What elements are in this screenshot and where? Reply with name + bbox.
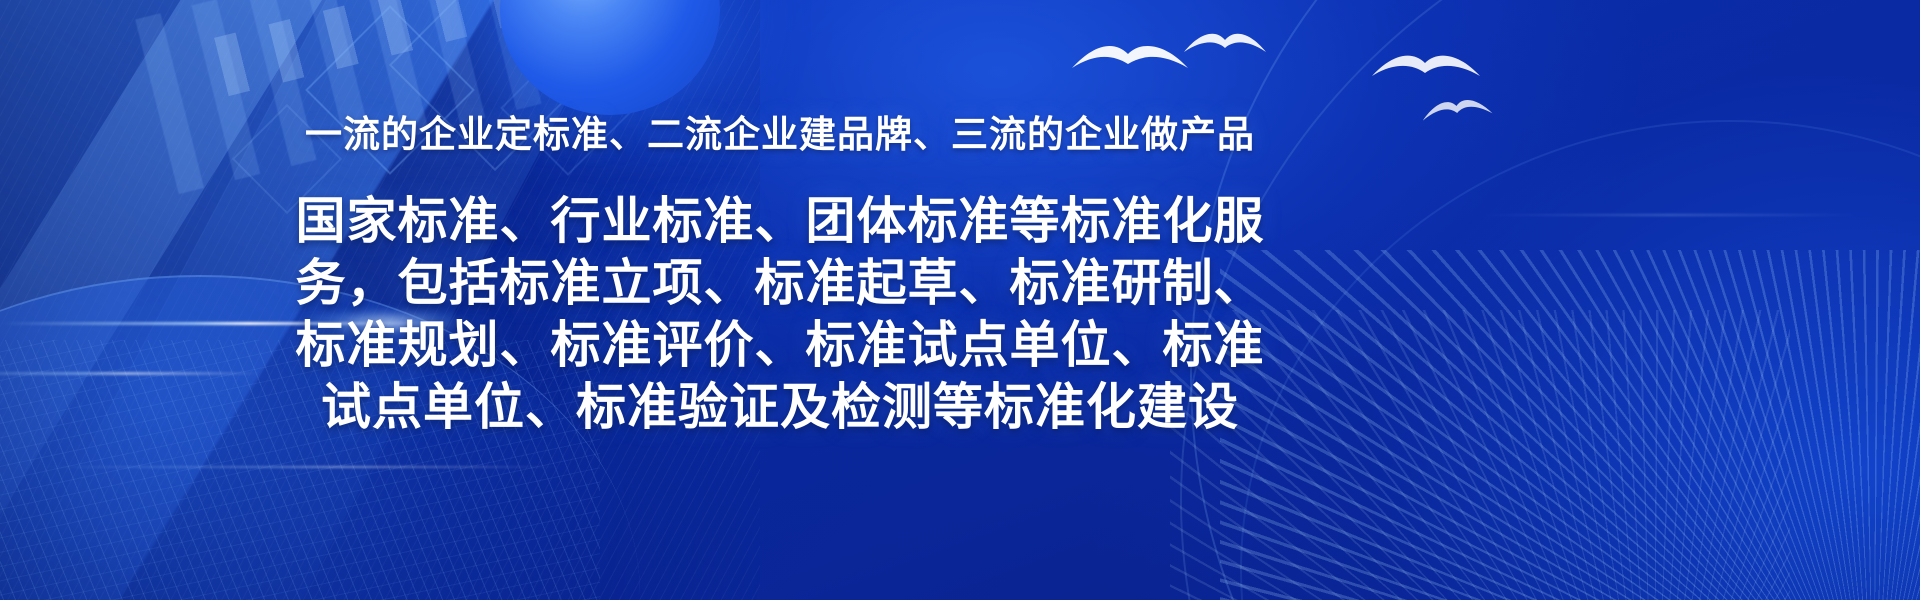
banner-body-line: 标准规划、标准评价、标准试点单位、标准 (250, 314, 1310, 376)
banner-body-line: 试点单位、标准验证及检测等标准化建设 (250, 376, 1310, 438)
promo-banner: 一流的企业定标准、二流企业建品牌、三流的企业做产品 国家标准、行业标准、团体标准… (0, 0, 1920, 600)
banner-body-text: 国家标准、行业标准、团体标准等标准化服 务，包括标准立项、标准起草、标准研制、 … (250, 190, 1310, 438)
banner-body-line: 务，包括标准立项、标准起草、标准研制、 (250, 252, 1310, 314)
banner-text-block: 一流的企业定标准、二流企业建品牌、三流的企业做产品 国家标准、行业标准、团体标准… (0, 0, 1560, 600)
banner-body-line: 国家标准、行业标准、团体标准等标准化服 (250, 190, 1310, 252)
banner-headline: 一流的企业定标准、二流企业建品牌、三流的企业做产品 (305, 112, 1255, 158)
